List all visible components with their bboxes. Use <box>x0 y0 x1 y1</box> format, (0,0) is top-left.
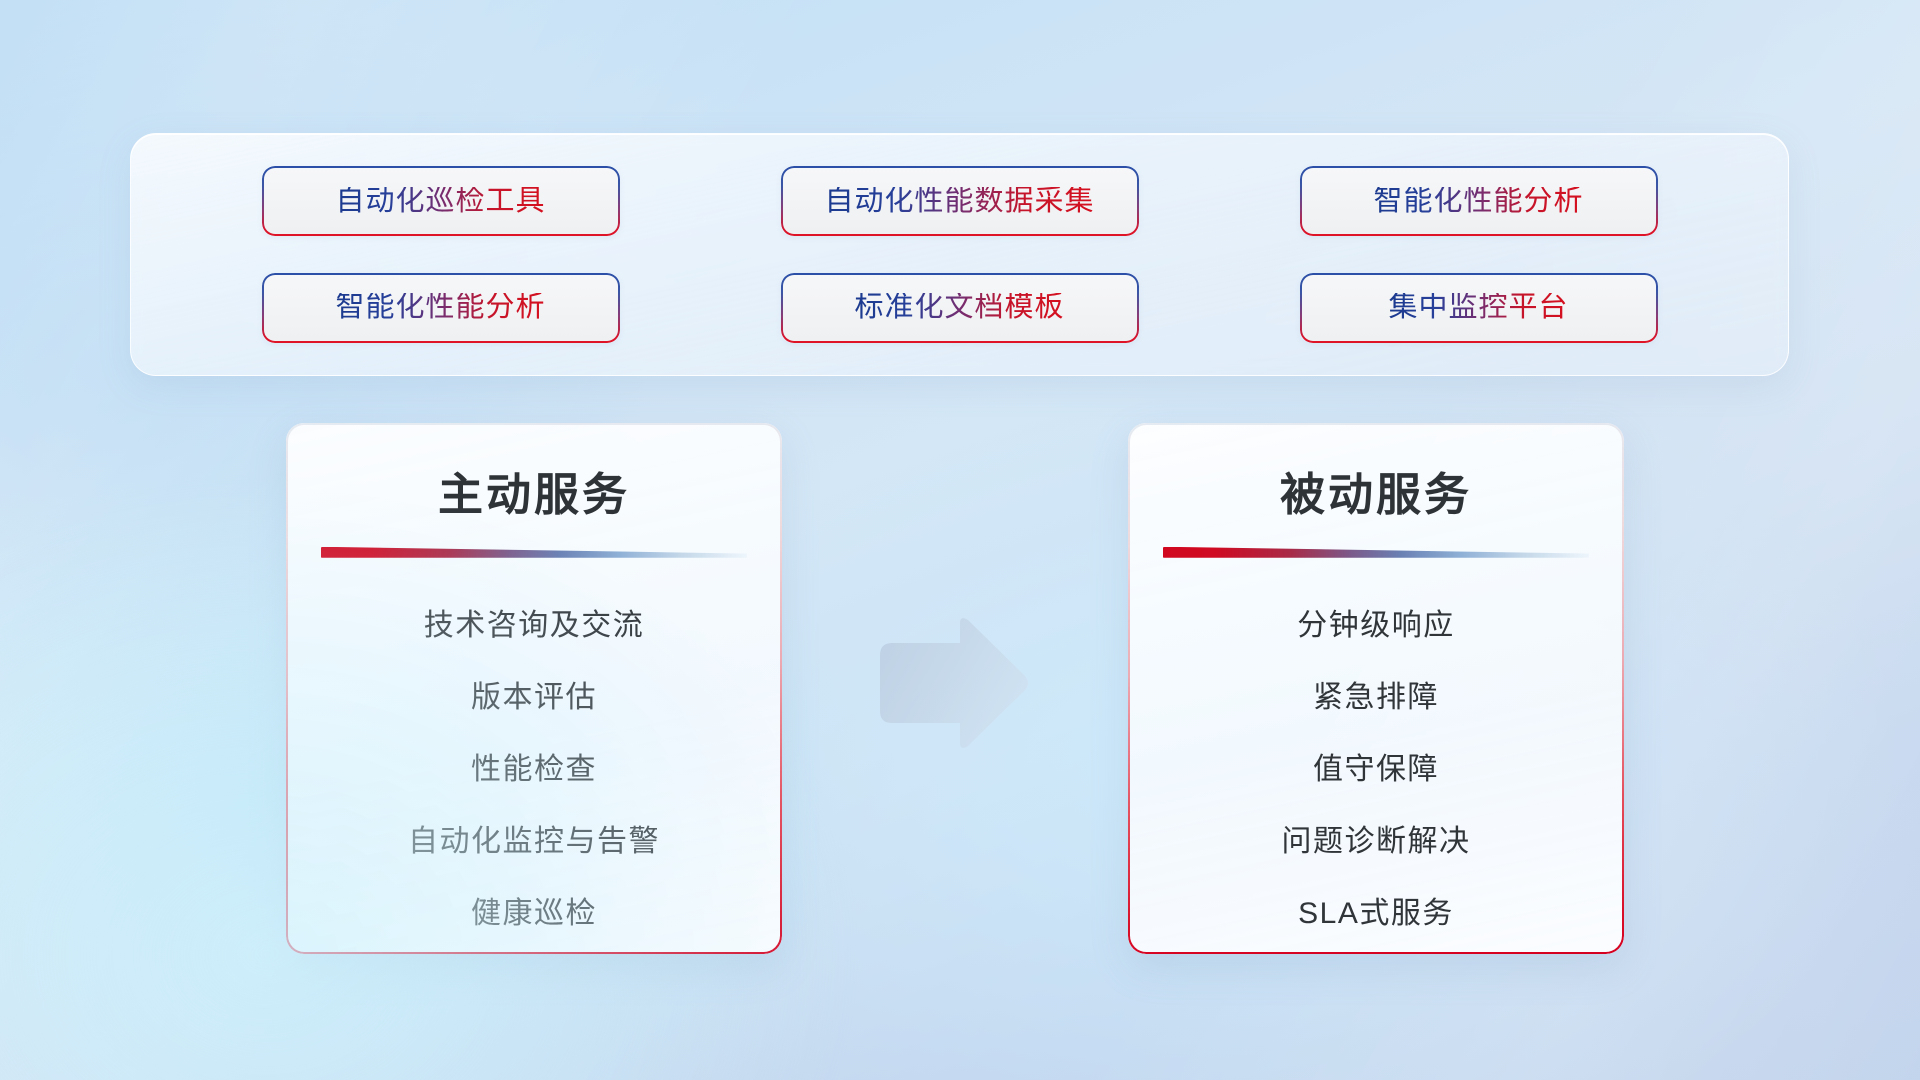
service-card-reactive: 被动服务 分钟级响应 紧急排障 值守保障 问题诊断解决 SLA式服务 <box>1128 423 1624 954</box>
capability-pill-3[interactable]: 智能化性能分析 <box>1300 166 1658 236</box>
capability-pill-1[interactable]: 自动化巡检工具 <box>262 166 620 236</box>
service-item: 版本评估 <box>471 662 597 734</box>
service-item: 紧急排障 <box>1313 662 1439 734</box>
capability-pill-6[interactable]: 集中监控平台 <box>1300 273 1658 343</box>
service-card-title: 被动服务 <box>1280 469 1472 521</box>
service-card-proactive: 主动服务 技术咨询及交流 版本评估 性能检查 自动化监控与告警 健康巡检 <box>286 423 782 954</box>
arrow-right-icon <box>872 617 1032 752</box>
service-item: 健康巡检 <box>471 878 597 950</box>
capability-pill-4[interactable]: 智能化性能分析 <box>262 273 620 343</box>
capability-pill-5[interactable]: 标准化文档模板 <box>781 273 1139 343</box>
flow-arrow <box>872 617 1032 752</box>
service-item: 问题诊断解决 <box>1282 806 1471 878</box>
service-item: 值守保障 <box>1313 734 1439 806</box>
service-card-title: 主动服务 <box>438 469 630 521</box>
capability-pill-label: 集中监控平台 <box>1388 293 1568 322</box>
service-item: 性能检查 <box>471 734 597 806</box>
capability-pill-2[interactable]: 自动化性能数据采集 <box>781 166 1139 236</box>
service-item: 分钟级响应 <box>1297 590 1455 662</box>
capability-pill-label: 自动化巡检工具 <box>335 187 545 216</box>
service-item: 自动化监控与告警 <box>408 806 660 878</box>
service-item: SLA式服务 <box>1298 878 1454 950</box>
service-item: 技术咨询及交流 <box>424 590 645 662</box>
capability-pill-label: 自动化性能数据采集 <box>824 187 1094 216</box>
diagram-canvas: 自动化巡检工具 自动化性能数据采集 智能化性能分析 智能化性能分析 标准化文档模… <box>0 0 1920 1080</box>
title-divider <box>321 547 747 558</box>
capability-pill-label: 智能化性能分析 <box>335 293 545 322</box>
capability-panel: 自动化巡检工具 自动化性能数据采集 智能化性能分析 智能化性能分析 标准化文档模… <box>130 133 1789 376</box>
service-item-list: 技术咨询及交流 版本评估 性能检查 自动化监控与告警 健康巡检 <box>322 590 746 950</box>
capability-pill-label: 标准化文档模板 <box>854 293 1064 322</box>
capability-pill-label: 智能化性能分析 <box>1373 187 1583 216</box>
title-divider <box>1163 547 1589 558</box>
service-item-list: 分钟级响应 紧急排障 值守保障 问题诊断解决 SLA式服务 <box>1164 590 1588 950</box>
